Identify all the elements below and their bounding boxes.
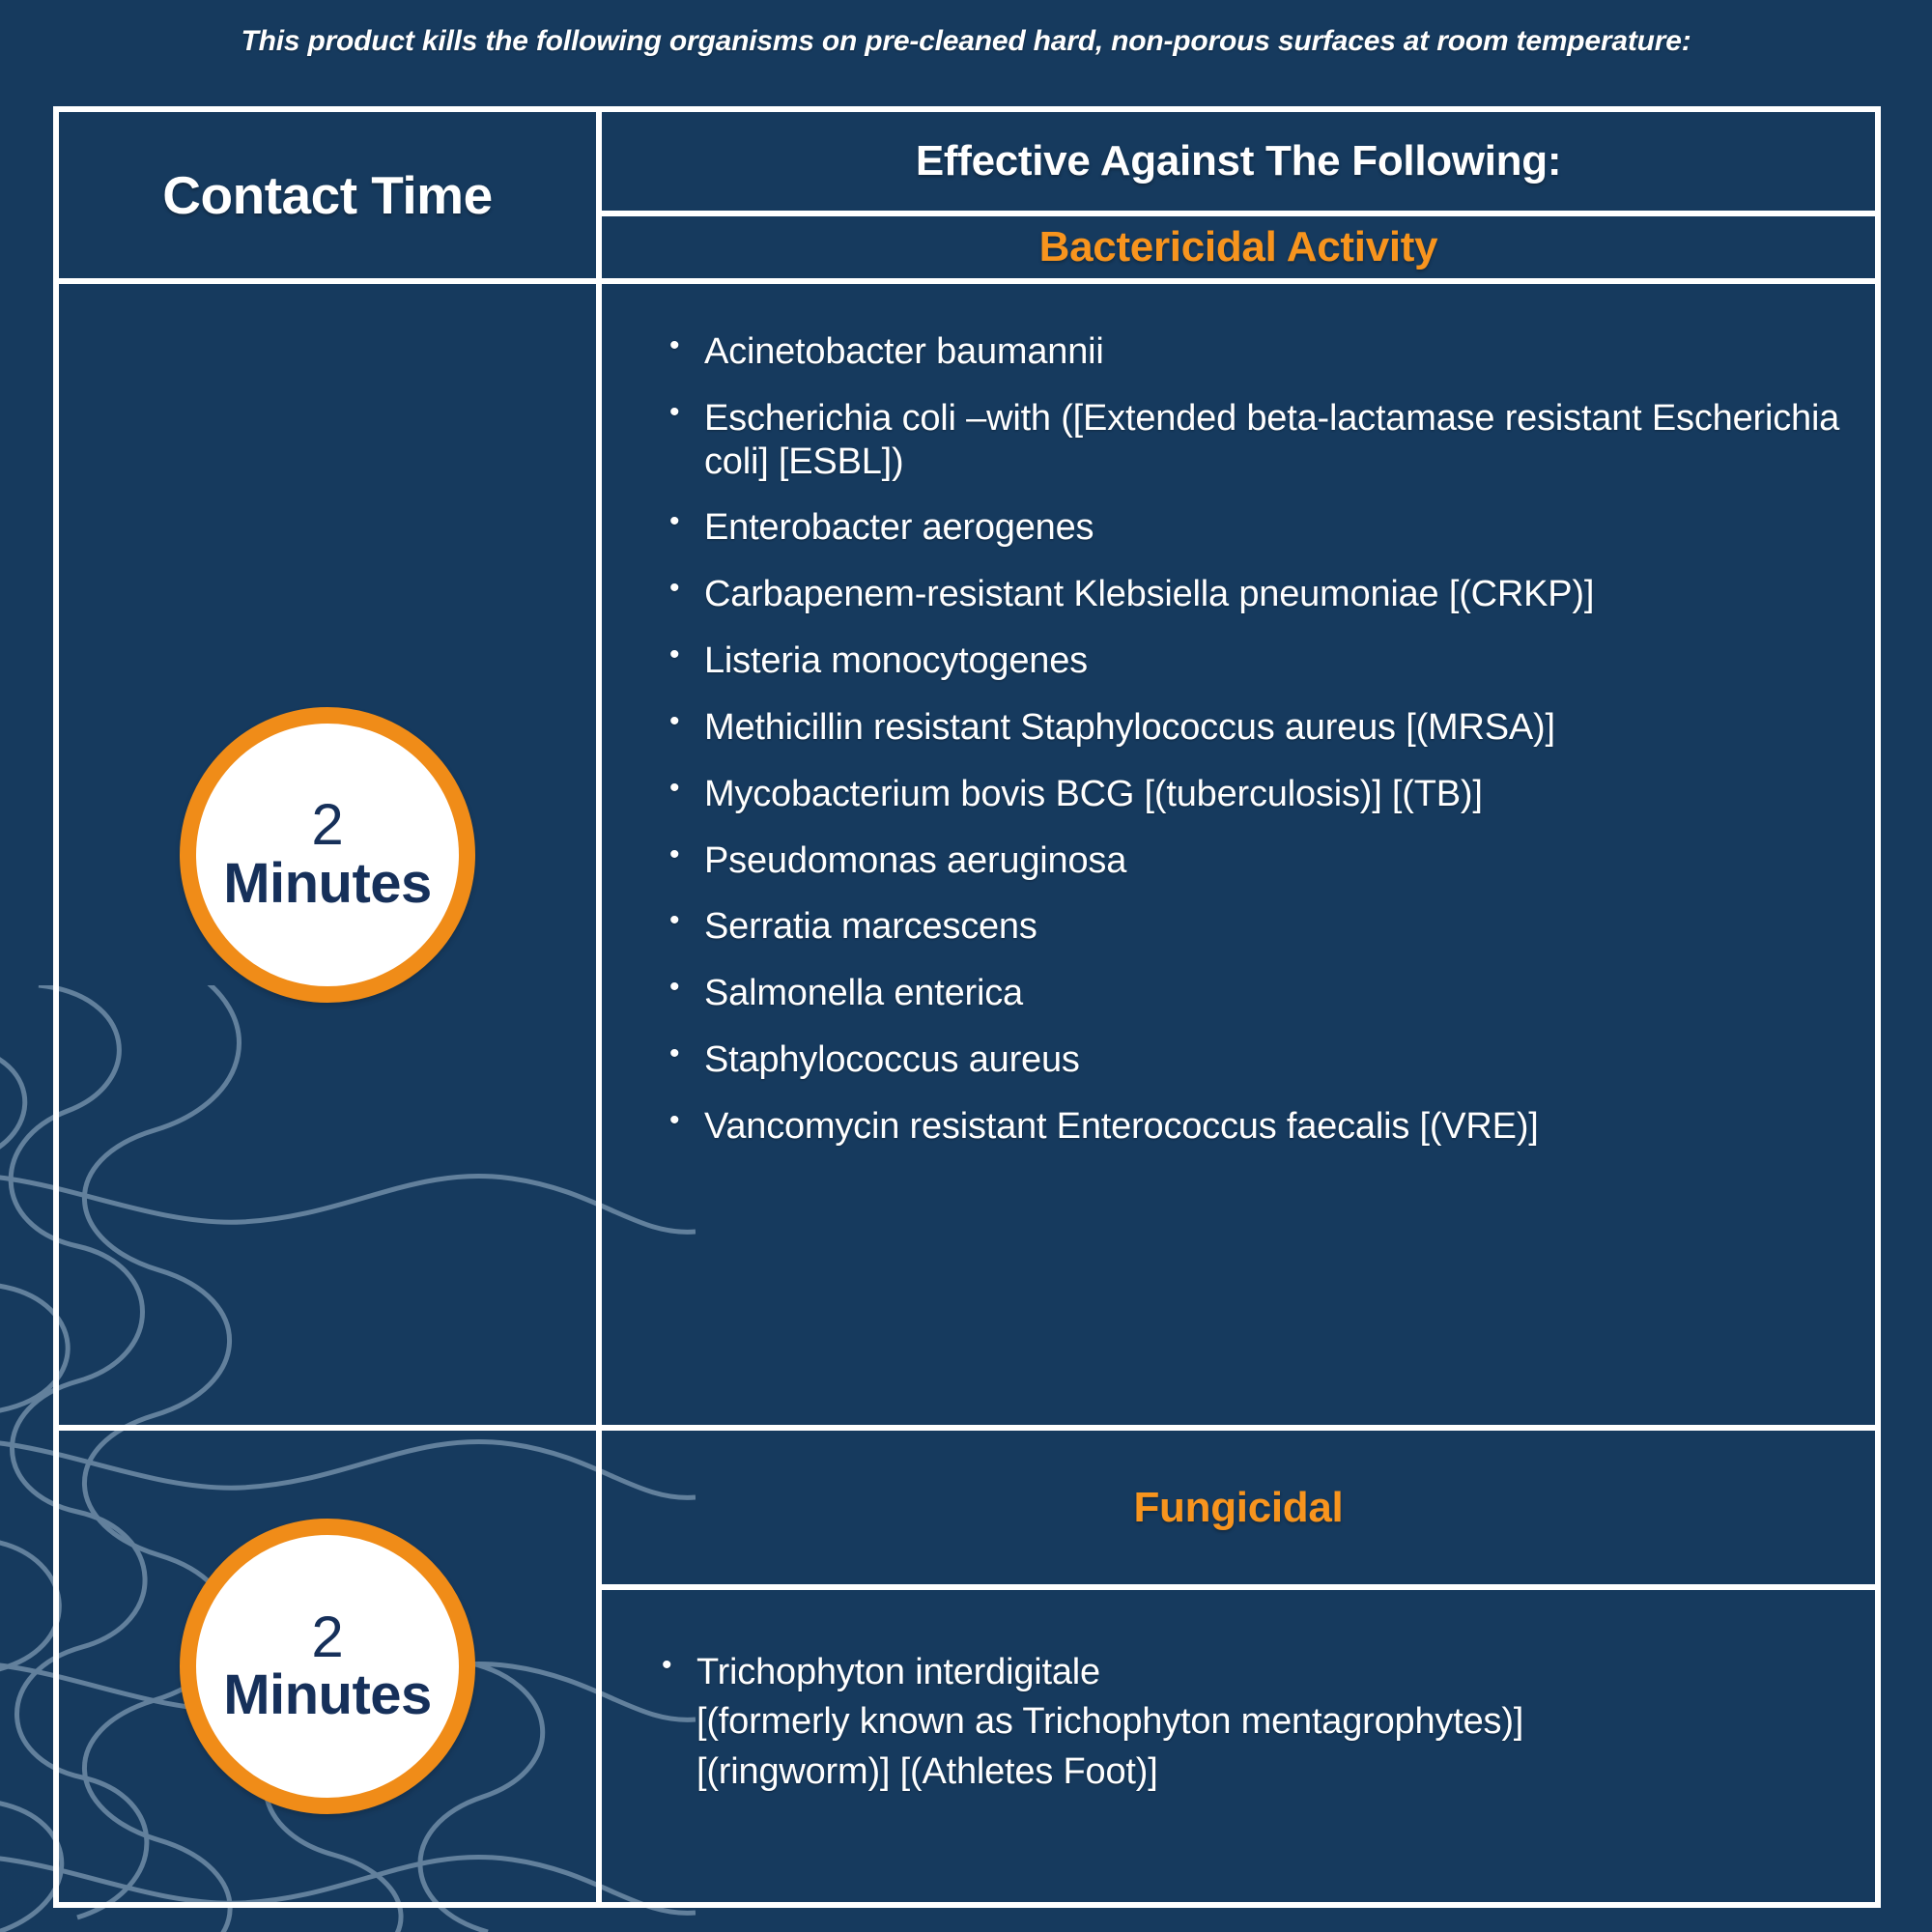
effective-against-header-label: Effective Against The Following: (916, 137, 1561, 185)
contact-time-cell-fungicidal: 2 Minutes (59, 1431, 596, 1902)
effective-against-header-cell: Effective Against The Following: (602, 112, 1875, 211)
contact-time-unit: Minutes (223, 855, 432, 914)
list-item: Acinetobacter baumannii (666, 330, 1846, 374)
contact-time-badge-bactericidal: 2 Minutes (180, 707, 475, 1003)
contact-time-badge-fungicidal: 2 Minutes (180, 1519, 475, 1814)
list-item: Carbapenem-resistant Klebsiella pneumoni… (666, 573, 1846, 616)
contact-time-unit: Minutes (223, 1666, 432, 1725)
fungicidal-organism-list-cell: Trichophyton interdigitale [(formerly kn… (602, 1590, 1875, 1902)
intro-statement: This product kills the following organis… (0, 25, 1932, 58)
organism-synonym: [(formerly known as Trichophyton mentagr… (696, 1697, 1846, 1747)
list-item: Listeria monocytogenes (666, 639, 1846, 683)
list-item: Serratia marcescens (666, 905, 1846, 949)
fungicidal-heading-cell: Fungicidal (602, 1431, 1875, 1584)
bactericidal-organism-list: Acinetobacter baumannii Escherichia coli… (666, 330, 1846, 1149)
organism-common-names: [(ringworm)] [(Athletes Foot)] (696, 1747, 1846, 1797)
fungicidal-organism-list: Trichophyton interdigitale [(formerly kn… (658, 1648, 1846, 1797)
bactericidal-heading-label: Bactericidal Activity (1039, 223, 1438, 271)
list-item: Vancomycin resistant Enterococcus faecal… (666, 1105, 1846, 1149)
contact-time-number: 2 (311, 795, 343, 854)
list-item: Trichophyton interdigitale [(formerly kn… (658, 1648, 1846, 1797)
list-item: Escherichia coli –with ([Extended beta-l… (666, 397, 1846, 484)
list-item: Mycobacterium bovis BCG [(tuberculosis)]… (666, 773, 1846, 816)
list-item: Enterobacter aerogenes (666, 506, 1846, 550)
contact-time-cell-bactericidal: 2 Minutes (59, 284, 596, 1425)
list-item: Staphylococcus aureus (666, 1038, 1846, 1082)
contact-time-header-cell: Contact Time (59, 112, 596, 278)
bactericidal-heading-cell: Bactericidal Activity (602, 216, 1875, 278)
list-item: Methicillin resistant Staphylococcus aur… (666, 706, 1846, 750)
organism-name: Trichophyton interdigitale (696, 1648, 1846, 1697)
list-item: Pseudomonas aeruginosa (666, 839, 1846, 883)
contact-time-header-label: Contact Time (162, 164, 492, 226)
contact-time-number: 2 (311, 1607, 343, 1666)
efficacy-table: Contact Time Effective Against The Follo… (53, 106, 1881, 1908)
bactericidal-organism-list-cell: Acinetobacter baumannii Escherichia coli… (602, 284, 1875, 1425)
fungicidal-heading-label: Fungicidal (1133, 1484, 1343, 1532)
list-item: Salmonella enterica (666, 972, 1846, 1015)
